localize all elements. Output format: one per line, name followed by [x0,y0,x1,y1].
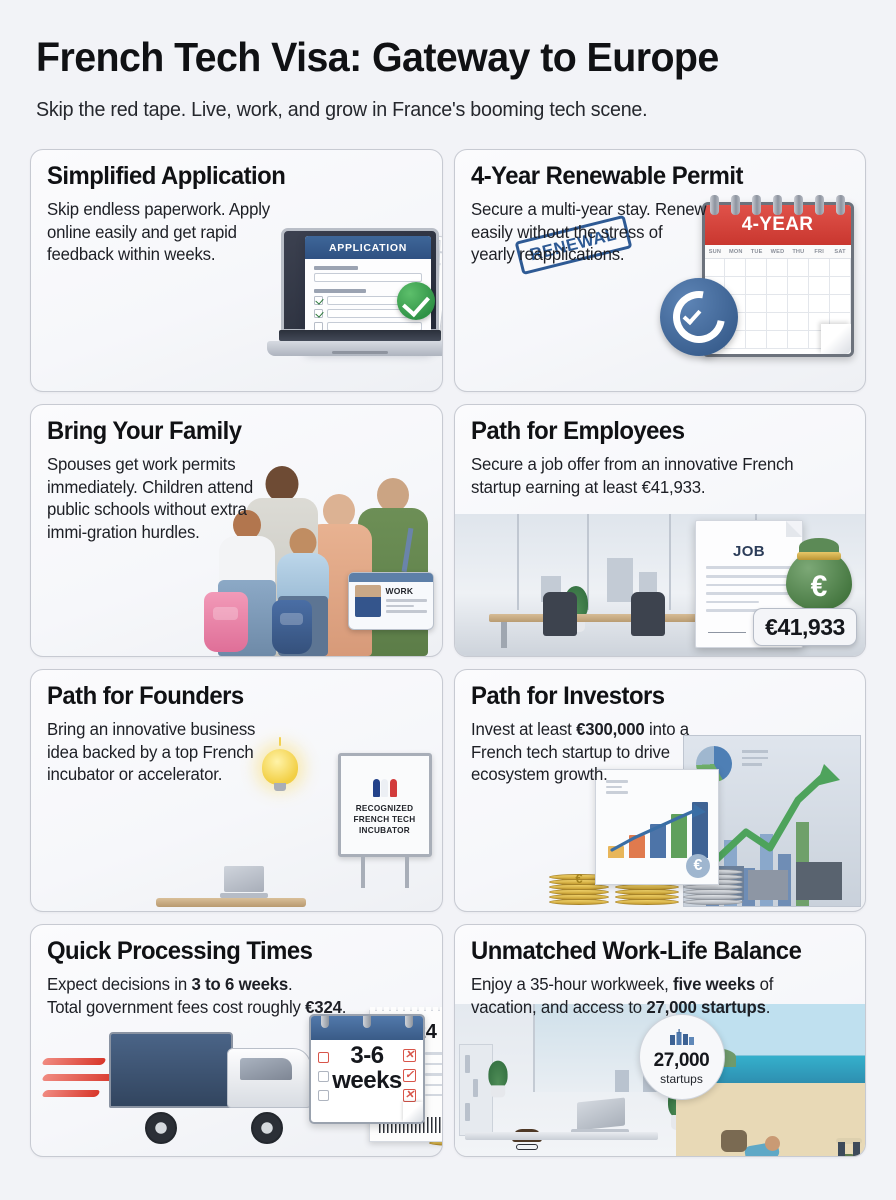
card-header: Path for Founders Bring an innovative bu… [31,670,442,785]
startups-value: 27,000 startups [646,997,765,1017]
investment-value: €300,000 [576,719,644,739]
bar-chart [608,802,708,858]
startups-badge-icon: 27,000 startups [639,1014,725,1100]
backpack-icon [721,1130,747,1152]
euro-icon: € [783,572,855,602]
body-suffix: . [288,974,292,994]
badge-label: startups [660,1072,703,1086]
bookshelf-icon [459,1044,493,1136]
calendar-checkbox-group [318,1052,329,1109]
salary-value: €41,933 [641,477,700,497]
card-body-text: Secure a multi-year stay. Renew easily w… [471,198,710,266]
meeting-person [698,866,744,900]
card-body-text: Bring an innovative business idea backed… [47,718,286,786]
laptop-icon [220,866,268,898]
money-bag-icon: € [783,538,855,610]
body-prefix: Invest at least [471,719,576,739]
glasses-icon [516,1144,538,1150]
card-path-for-employees[interactable]: Path for Employees Secure a job offer fr… [454,404,867,657]
sign-line: INCUBATOR [359,825,410,836]
family-member [274,528,332,656]
card-title: Bring Your Family [47,418,408,446]
badge-photo [355,585,381,617]
form-checkbox[interactable] [314,309,323,318]
card-body-text: Enjoy a 35-hour workweek, five weeks ofv… [471,973,836,1018]
card-unmatched-work-life-balance[interactable]: Unmatched Work-Life Balance Enjoy a 35-h… [454,924,867,1157]
card-title: Path for Investors [471,683,832,711]
beach-scene-icon [676,1004,865,1156]
card-four-year-renewable-permit[interactable]: 4-Year Renewable Permit Secure a multi-y… [454,149,867,392]
calendar-icon: 3-6 weeks ✕✓✕ [309,1014,425,1124]
form-checkbox[interactable] [314,322,323,331]
body-suffix: of [755,974,773,994]
card-body-text: Invest at least €300,000 into a French t… [471,718,710,786]
green-checkmark-icon [397,282,435,320]
job-offer-document-icon: JOB [695,520,803,648]
card-title: Unmatched Work-Life Balance [471,938,832,966]
receipt-icon: €324 [369,1010,443,1142]
work-id-badge-icon: WORK [348,572,434,630]
calendar-duration-line1: 3-6 [350,1042,383,1069]
calendar-duration-line2: weeks [332,1067,402,1094]
page-header: French Tech Visa: Gateway to Europe Skip… [30,0,866,122]
body-prefix: Secure a job offer from an innovative Fr… [471,454,793,497]
badge-number: 27,000 [654,1051,710,1070]
body-prefix: Enjoy a 35-hour workweek, [471,974,673,994]
infographic-page: French Tech Visa: Gateway to Europe Skip… [0,0,896,1200]
sign-line: FRENCH TECH [354,814,416,825]
card-body-text: Expect decisions in 3 to 6 weeks.Total g… [47,973,412,1018]
card-header: 4-Year Renewable Permit Secure a multi-y… [455,150,866,265]
growth-chart-icon: € [595,769,719,885]
badge-label: WORK [386,586,427,596]
refresh-check-icon [660,278,738,356]
card-body-text: Skip endless paperwork. Apply online eas… [47,198,286,266]
card-header: Path for Employees Secure a job offer fr… [455,405,866,498]
office-scene-icon [455,514,866,656]
page-subtitle: Skip the red tape. Live, work, and grow … [36,98,827,122]
processing-time-value: 3 to 6 weeks [191,974,288,994]
card-body-text: Secure a job offer from an innovative Fr… [471,453,836,498]
card-simplified-application[interactable]: Simplified Application Skip endless pape… [30,149,443,392]
euro-icon: € [686,854,710,878]
card-header: Simplified Application Skip endless pape… [31,150,442,265]
body-suffix: . [342,997,346,1017]
form-checkbox[interactable] [314,296,323,305]
card-body-text: Spouses get work permits immediately. Ch… [47,453,286,544]
card-title: Simplified Application [47,163,408,191]
card-header: Bring Your Family Spouses get work permi… [31,405,442,543]
card-title: Quick Processing Times [47,938,408,966]
benefit-card-grid: Simplified Application Skip endless pape… [30,149,866,1157]
hill-icon [676,1047,736,1067]
body-suffix: . [765,997,769,1017]
card-title: Path for Employees [471,418,832,446]
sign-line: RECOGNIZED [356,803,414,814]
form-submit-button[interactable] [380,335,422,346]
receipt-amount: €324 [379,1021,443,1044]
body-suffix: . [700,477,704,497]
meeting-person [796,862,842,900]
body-prefix: vacation, and access to [471,997,646,1017]
city-skyline-icon [455,540,866,602]
card-path-for-founders[interactable]: Path for Founders Bring an innovative bu… [30,669,443,912]
backpack-icon [272,600,312,654]
card-quick-processing-times[interactable]: Quick Processing Times Expect decisions … [30,924,443,1157]
remote-worker-icon [455,1004,677,1156]
card-title: 4-Year Renewable Permit [471,163,832,191]
body-prefix: Total government fees cost roughly [47,997,305,1017]
card-header: Path for Investors Invest at least €300,… [455,670,866,785]
calendar-grid [705,259,851,349]
card-path-for-investors[interactable]: Path for Investors Invest at least €300,… [454,669,867,912]
calendar-mark-group: ✕✓✕ [403,1049,416,1109]
barcode-icon [379,1117,443,1133]
fee-value: €324 [305,997,342,1017]
body-prefix: Expect decisions in [47,974,191,994]
meeting-person [748,870,788,900]
delivery-truck-icon [109,1032,233,1108]
vacation-value: five weeks [673,974,755,994]
speed-lines-icon [43,1058,119,1106]
salary-pill: €41,933 [753,608,857,646]
card-header: Unmatched Work-Life Balance Enjoy a 35-h… [455,925,866,1018]
backpack-icon [204,592,248,652]
card-title: Path for Founders [47,683,408,711]
laptop-icon [571,1100,629,1134]
signature-line [708,623,746,633]
card-header: Quick Processing Times Expect decisions … [31,925,442,1018]
card-bring-your-family[interactable]: Bring Your Family Spouses get work permi… [30,404,443,657]
building-icon [669,1029,695,1050]
page-title: French Tech Visa: Gateway to Europe [36,36,827,79]
document-title: JOB [706,543,792,560]
